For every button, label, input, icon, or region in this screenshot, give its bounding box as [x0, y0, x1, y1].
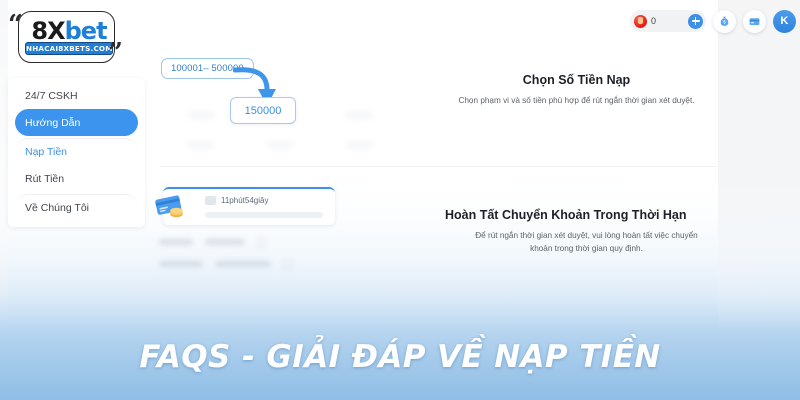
wallet-button[interactable] [743, 10, 766, 33]
section-2-copy: Hoàn Tất Chuyển Khoản Trong Thời Hạn Để … [435, 181, 718, 306]
page-left-gutter [0, 0, 8, 330]
red-coin-icon [634, 15, 647, 28]
timer-placeholder-block [205, 196, 216, 205]
page-right-gutter [718, 0, 800, 330]
faq-banner: FAQS - GIẢI ĐÁP VỀ NẠP TIỀN [0, 314, 800, 400]
amount-chip [188, 112, 214, 118]
copy-icon[interactable] [257, 238, 266, 247]
deposit-button[interactable] [713, 10, 736, 33]
user-avatar[interactable]: K [773, 10, 796, 33]
sidebar-item-deposit[interactable]: Nạp Tiền [15, 138, 138, 165]
balance-pill[interactable]: 0 [630, 10, 706, 32]
credit-card-coins-icon [154, 194, 190, 222]
section-1-copy: Chọn Số Tiền Nạp Chọn phạm vi và số tiền… [435, 46, 718, 168]
guide-content: 100001– 500000 150000 Chọn Số Tiền Nạp [145, 36, 718, 330]
sidebar-item-about[interactable]: Về Chúng Tôi [15, 194, 138, 221]
detail-label-placeholder [159, 239, 193, 245]
detail-value-placeholder [215, 261, 271, 267]
card-icon [748, 15, 761, 28]
sidebar-nav: 24/7 CSKH Hướng Dẫn Nạp Tiền Rút Tiền Về… [8, 78, 145, 227]
section-select-amount: 100001– 500000 150000 Chọn Số Tiền Nạp [145, 46, 718, 168]
transfer-detail-row [159, 253, 359, 275]
copy-icon[interactable] [283, 260, 292, 269]
logo-wordmark: 8Xbet [20, 19, 118, 43]
site-logo[interactable]: “ 8Xbet NHACAI8XBETS.COM ” [8, 6, 124, 68]
detail-value-placeholder [205, 239, 245, 245]
section-1-description: Chọn phạm vi và số tiền phù hợp để rút n… [435, 94, 718, 108]
section-2-description: Để rút ngắn thời gian xét duyệt, vui lòn… [435, 229, 718, 256]
detail-label-placeholder [159, 261, 203, 267]
quote-close-mark: ” [108, 40, 123, 66]
section-2-heading: Hoàn Tất Chuyển Khoản Trong Thời Hạn [435, 207, 718, 224]
selected-amount-field[interactable]: 150000 [230, 97, 296, 124]
money-bag-icon [718, 15, 731, 28]
amount-chip [267, 142, 293, 148]
banner-title: FAQS - GIẢI ĐÁP VỀ NẠP TIỀN [139, 339, 660, 375]
transfer-detail-rows [159, 231, 359, 275]
amount-picker-illustration: 100001– 500000 150000 [145, 46, 435, 168]
transfer-timer-row: 11phút54giây [205, 196, 268, 205]
transfer-progress-bar [205, 212, 323, 218]
screenshot-root: “ 8Xbet NHACAI8XBETS.COM ” 0 K [0, 0, 800, 400]
sidebar-item-guide[interactable]: Hướng Dẫn [15, 109, 138, 136]
account-toolbar: 0 K [630, 6, 796, 36]
logo-wordmark-dark: 8X [31, 17, 64, 45]
transfer-card: 11phút54giây [163, 187, 335, 225]
sidebar-item-support[interactable]: 24/7 CSKH [15, 82, 138, 109]
amount-chip [188, 142, 214, 148]
plus-icon[interactable] [688, 14, 703, 29]
balance-amount: 0 [651, 17, 684, 26]
section-complete-transfer: 11phút54giây [145, 181, 718, 306]
amount-chip [346, 112, 372, 118]
section-1-heading: Chọn Số Tiền Nạp [435, 72, 718, 89]
logo-domain-label: NHACAI8XBETS.COM [25, 42, 113, 55]
transfer-detail-row [159, 231, 359, 253]
amount-chip [346, 142, 372, 148]
transfer-illustration: 11phút54giây [145, 181, 435, 306]
countdown-text: 11phút54giây [221, 196, 268, 205]
sidebar-item-withdraw[interactable]: Rút Tiền [15, 165, 138, 192]
logo-wordmark-blue: bet [65, 17, 107, 45]
